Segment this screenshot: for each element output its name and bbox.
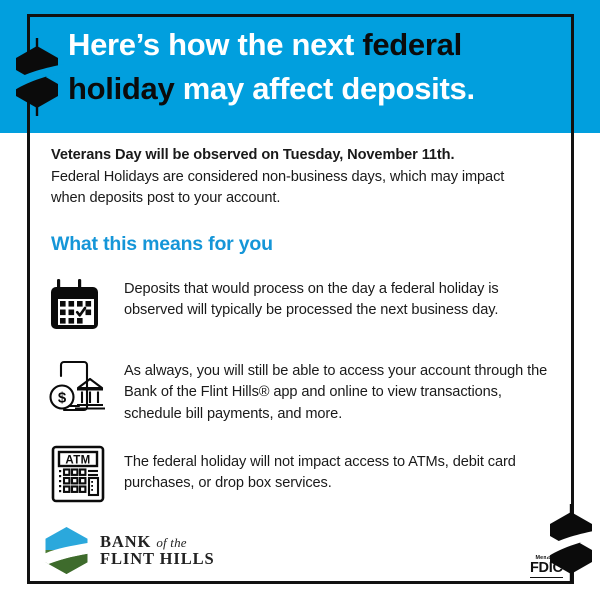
list-item: ATM: [48, 440, 548, 520]
intro-lead-line: Veterans Day will be observed on Tuesday…: [51, 145, 543, 167]
list-item-text: As always, you will still be able to acc…: [124, 354, 548, 425]
decorative-mark-bottom-right: [540, 504, 600, 587]
headline-segment-white-1: Here’s how the next: [68, 27, 362, 62]
list-item-text: Deposits that would process on the day a…: [124, 272, 548, 322]
decorative-mark-top-left: [6, 38, 68, 121]
headline-segment-dark-1: federal: [362, 27, 462, 62]
calendar-check-icon: [48, 272, 124, 334]
headline-segment-dark-2: holiday: [68, 71, 174, 106]
bank-hexagon-logo-icon: [42, 526, 91, 575]
list-item: Deposits that would process on the day a…: [48, 272, 548, 354]
list-item-text: The federal holiday will not impact acce…: [124, 440, 548, 495]
mobile-banking-bank-icon: $: [48, 354, 124, 416]
infographic-canvas: Here’s how the next federal holiday may …: [0, 0, 600, 600]
wordmark-flint-hills: FLINT HILLS: [100, 551, 215, 568]
footer-brand-logo: BANK of the FLINT HILLS: [42, 526, 215, 575]
section-heading: What this means for you: [51, 233, 273, 256]
svg-text:ATM: ATM: [65, 455, 90, 467]
intro-body-line-1: Federal Holidays are considered non-busi…: [51, 167, 543, 188]
atm-machine-icon: ATM: [48, 440, 124, 502]
svg-text:$: $: [58, 390, 67, 407]
intro-body-line-2: when deposits post to your account.: [51, 188, 543, 209]
wordmark-bank: BANK: [100, 532, 151, 551]
brand-wordmark: BANK of the FLINT HILLS: [100, 534, 215, 568]
intro-block: Veterans Day will be observed on Tuesday…: [51, 145, 543, 210]
wordmark-of-the: of the: [156, 535, 186, 550]
list-item: $ As always, you will still be able to a…: [48, 354, 548, 440]
headline-segment-white-2: may affect deposits.: [174, 71, 474, 106]
page-headline: Here’s how the next federal holiday may …: [68, 23, 558, 111]
points-list: Deposits that would process on the day a…: [48, 272, 548, 520]
